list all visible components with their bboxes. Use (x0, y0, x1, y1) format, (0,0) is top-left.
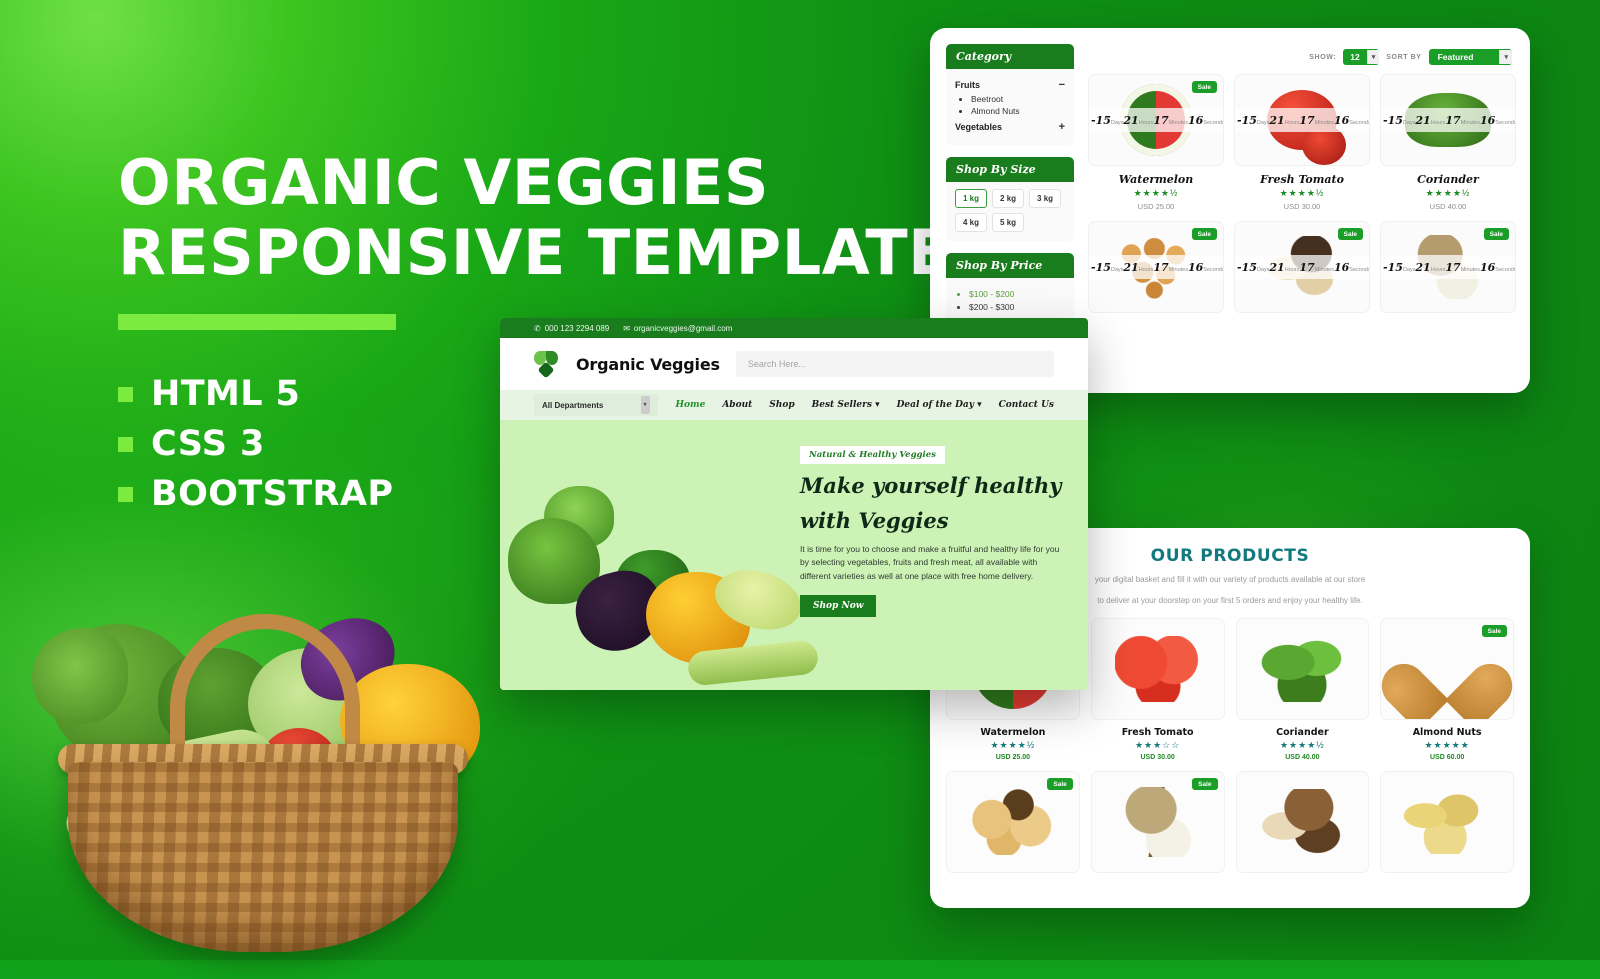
envelope-icon: ✉ (623, 324, 630, 333)
size-chip-5kg[interactable]: 5 kg (992, 213, 1024, 232)
phone-icon: ✆ (534, 324, 541, 333)
countdown-timer: -15Days 21Hours 17Minutes 16Seconds (1381, 108, 1515, 132)
countdown-value: 17 (1153, 261, 1168, 274)
category-widget: Category Fruits − Beetroot Almond Nuts V… (946, 44, 1074, 145)
product-image: -15Days 21Hours 17Minutes 16Seconds (1234, 74, 1370, 166)
feature-label: CSS 3 (151, 424, 265, 464)
product-image (1236, 618, 1370, 720)
nav-item-deal-of-the-day[interactable]: Deal of the Day ▾ (897, 400, 982, 410)
product-price: USD 40.00 (1236, 754, 1370, 761)
product-image (1380, 771, 1514, 873)
nav-item-shop[interactable]: Shop (769, 400, 794, 410)
departments-label: All Departments (542, 401, 603, 410)
vegetable-basket-image (10, 540, 510, 960)
countdown-value: -15 (1091, 114, 1111, 127)
product-card[interactable]: Sale (946, 771, 1080, 873)
countdown-timer: -15Days 21Hours 17Minutes 16Seconds (1235, 108, 1369, 132)
category-label: Fruits (955, 80, 980, 90)
product-image: Sale -15Days 21Hours 17Minutes 16Seconds (1380, 221, 1516, 313)
promo-title-line1: ORGANIC VEGGIES (118, 148, 938, 218)
countdown-label: Hours (1139, 120, 1154, 126)
product-card[interactable]: Coriander ★★★★½ USD 40.00 (1236, 618, 1370, 761)
product-price: USD 25.00 (946, 754, 1080, 761)
countdown-value: 16 (1480, 261, 1495, 274)
countdown-value: 17 (1445, 114, 1460, 127)
minus-icon[interactable]: − (1059, 79, 1065, 91)
logo-icon[interactable] (534, 351, 560, 377)
countdown-timer: -15Days 21Hours 17Minutes 16Seconds (1089, 255, 1223, 279)
countdown-label: Seconds (1203, 267, 1224, 273)
email-contact[interactable]: ✉ organicveggies@gmail.com (623, 324, 732, 333)
mushroom-image (1237, 772, 1369, 872)
countdown-value: -15 (1237, 261, 1257, 274)
nav-links: Home About Shop Best Sellers ▾ Deal of t… (676, 400, 1054, 410)
nav-label: Deal of the Day (897, 400, 974, 410)
rating-stars: ★★★★½ (946, 740, 1080, 751)
product-price: USD 30.00 (1091, 754, 1225, 761)
product-card[interactable]: Sale -15Days 21Hours 17Minutes 16Seconds (1380, 221, 1516, 313)
hero-title-line1: Make yourself healthy (800, 474, 1070, 499)
status-badge: Sale (1047, 778, 1072, 790)
chevron-down-icon[interactable]: ▾ (1367, 50, 1380, 64)
status-badge: Sale (1192, 228, 1217, 240)
category-label: Vegetables (955, 122, 1002, 132)
coriander-image (1237, 619, 1369, 719)
hero-copy: Natural & Healthy Veggies Make yourself … (800, 444, 1070, 617)
countdown-label: Minutes (1315, 267, 1334, 273)
potato-image (1381, 772, 1513, 872)
product-card[interactable]: Sale (1091, 771, 1225, 873)
square-bullet-icon (118, 487, 133, 502)
size-widget: Shop By Size 1 kg 2 kg 3 kg 4 kg 5 kg (946, 157, 1074, 241)
phone-number: 000 123 2294 089 (545, 324, 610, 333)
product-name: Coriander (1380, 173, 1516, 186)
countdown-label: Minutes (1169, 267, 1188, 273)
product-name: Watermelon (946, 727, 1080, 738)
rating-stars: ★★★★½ (1234, 188, 1370, 199)
rating-stars: ★★★★★ (1380, 740, 1514, 751)
sort-value: Featured (1429, 49, 1500, 65)
product-name: Almond Nuts (1380, 727, 1514, 738)
countdown-value: 21 (1269, 114, 1284, 127)
product-name: Fresh Tomato (1091, 727, 1225, 738)
countdown-value: 21 (1415, 114, 1430, 127)
square-bullet-icon (118, 437, 133, 452)
size-chip-3kg[interactable]: 3 kg (1029, 189, 1061, 208)
countdown-value: 21 (1269, 261, 1284, 274)
status-badge: Sale (1484, 228, 1509, 240)
list-item[interactable]: $100 - $200 (969, 289, 1065, 299)
chevron-down-icon[interactable]: ▾ (1499, 50, 1512, 64)
shop-toolbar: SHOW: 12 ▾ SORT BY Featured ▾ (1088, 44, 1516, 70)
product-grid: Sale -15Days 21Hours 17Minutes 16Seconds… (1088, 74, 1516, 313)
countdown-value: 21 (1123, 114, 1138, 127)
product-image (1091, 618, 1225, 720)
nav-item-best-sellers[interactable]: Best Sellers ▾ (812, 400, 880, 410)
countdown-timer: -15Days 21Hours 17Minutes 16Seconds (1235, 255, 1369, 279)
countdown-label: Days (1403, 267, 1416, 273)
show-value: 12 (1343, 49, 1366, 65)
countdown-value: 17 (1299, 261, 1314, 274)
product-card[interactable] (1236, 771, 1370, 873)
phone-contact[interactable]: ✆ 000 123 2294 089 (534, 324, 609, 333)
countdown-value: 17 (1445, 261, 1460, 274)
product-price: USD 25.00 (1088, 202, 1224, 211)
price-widget-title: Shop By Price (946, 253, 1074, 278)
plus-icon[interactable]: + (1059, 121, 1065, 133)
status-badge: Sale (1482, 625, 1507, 637)
nav-item-contact-us[interactable]: Contact Us (999, 400, 1054, 410)
countdown-value: 16 (1188, 261, 1203, 274)
product-card[interactable]: -15Days 21Hours 17Minutes 16Seconds Cori… (1380, 74, 1516, 211)
list-item[interactable]: Beetroot (971, 94, 1065, 104)
product-card[interactable]: Sale -15Days 21Hours 17Minutes 16Seconds (1088, 221, 1224, 313)
countdown-value: -15 (1383, 261, 1403, 274)
product-card[interactable]: Sale -15Days 21Hours 17Minutes 16Seconds… (1088, 74, 1224, 211)
countdown-label: Minutes (1461, 267, 1480, 273)
category-group-vegetables[interactable]: Vegetables + (955, 121, 1065, 133)
email-address: organicveggies@gmail.com (634, 324, 732, 333)
size-widget-title: Shop By Size (946, 157, 1074, 182)
countdown-value: 21 (1123, 261, 1138, 274)
rating-stars: ★★★★½ (1236, 740, 1370, 751)
sort-select[interactable]: Featured ▾ (1429, 49, 1512, 65)
countdown-value: 21 (1415, 261, 1430, 274)
square-bullet-icon (118, 387, 133, 402)
promo-underline (118, 314, 396, 330)
countdown-label: Seconds (1495, 267, 1516, 273)
product-name: Watermelon (1088, 173, 1224, 186)
countdown-value: 16 (1334, 261, 1349, 274)
countdown-label: Days (1111, 120, 1124, 126)
countdown-label: Days (1111, 267, 1124, 273)
countdown-label: Seconds (1495, 120, 1516, 126)
status-badge: Sale (1338, 228, 1363, 240)
kale-leaf-small (32, 628, 128, 724)
countdown-label: Seconds (1349, 267, 1370, 273)
show-select[interactable]: 12 ▾ (1343, 49, 1379, 65)
countdown-label: Hours (1431, 267, 1446, 273)
basket-weave (68, 762, 458, 952)
brand-name[interactable]: Organic Veggies (576, 355, 720, 374)
list-item[interactable]: $200 - $300 (969, 302, 1065, 312)
product-price: USD 30.00 (1234, 202, 1370, 211)
countdown-label: Days (1403, 120, 1416, 126)
countdown-label: Hours (1431, 120, 1446, 126)
product-image (1236, 771, 1370, 873)
promo-title-line2: RESPONSIVE TEMPLATE (118, 218, 938, 288)
product-image: Sale -15Days 21Hours 17Minutes 16Seconds (1088, 221, 1224, 313)
size-chip-4kg[interactable]: 4 kg (955, 213, 987, 232)
countdown-value: 16 (1334, 114, 1349, 127)
product-image: -15Days 21Hours 17Minutes 16Seconds (1380, 74, 1516, 166)
countdown-label: Minutes (1169, 120, 1188, 126)
countdown-label: Hours (1285, 267, 1300, 273)
sort-label: SORT BY (1386, 54, 1421, 61)
countdown-label: Days (1257, 267, 1270, 273)
hero-body-text: It is time for you to choose and make a … (800, 543, 1070, 584)
product-name: Fresh Tomato (1234, 173, 1370, 186)
product-image: Sale (1091, 771, 1225, 873)
product-image: Sale -15Days 21Hours 17Minutes 16Seconds (1088, 74, 1224, 166)
nav-item-about[interactable]: About (722, 400, 752, 410)
nav-item-home[interactable]: Home (676, 400, 706, 410)
product-price: USD 40.00 (1380, 202, 1516, 211)
countdown-label: Minutes (1315, 120, 1334, 126)
hero-title-line2: with Veggies (800, 509, 1070, 534)
countdown-value: -15 (1237, 114, 1257, 127)
rating-stars: ★★★☆☆ (1091, 740, 1225, 751)
feature-label: BOOTSTRAP (151, 474, 393, 514)
product-price: USD 60.00 (1380, 754, 1514, 761)
list-item[interactable]: Almond Nuts (971, 106, 1065, 116)
tomato-image (1092, 619, 1224, 719)
status-badge: Sale (1192, 81, 1217, 93)
countdown-label: Days (1257, 120, 1270, 126)
size-chip-2kg[interactable]: 2 kg (992, 189, 1024, 208)
size-chip-1kg[interactable]: 1 kg (955, 189, 987, 208)
product-card[interactable]: Sale -15Days 21Hours 17Minutes 16Seconds (1234, 221, 1370, 313)
hero-vegetables-image (500, 460, 830, 690)
countdown-value: 16 (1480, 114, 1495, 127)
search-input[interactable]: Search Here... (736, 351, 1054, 377)
shop-main: SHOW: 12 ▾ SORT BY Featured ▾ Sale (1088, 44, 1516, 393)
site-header: Organic Veggies Search Here... (500, 338, 1088, 390)
main-navigation: All Departments ▾ Home About Shop Best S… (500, 390, 1088, 420)
category-children: Beetroot Almond Nuts (971, 94, 1065, 116)
countdown-label: Seconds (1349, 120, 1370, 126)
countdown-value: 16 (1188, 114, 1203, 127)
product-card[interactable]: -15Days 21Hours 17Minutes 16Seconds Fres… (1234, 74, 1370, 211)
product-card[interactable]: Fresh Tomato ★★★☆☆ USD 30.00 (1091, 618, 1225, 761)
countdown-value: -15 (1091, 261, 1111, 274)
hero-badge: Natural & Healthy Veggies (800, 446, 945, 464)
product-name: Coriander (1236, 727, 1370, 738)
nav-label: Best Sellers (812, 400, 872, 410)
feature-label: HTML 5 (151, 374, 300, 414)
chevron-down-icon[interactable]: ▾ (641, 396, 650, 414)
departments-dropdown[interactable]: All Departments ▾ (534, 394, 658, 416)
countdown-timer: -15Days 21Hours 17Minutes 16Seconds (1089, 108, 1223, 132)
contact-topbar: ✆ 000 123 2294 089 ✉ organicveggies@gmai… (500, 318, 1088, 338)
product-card[interactable] (1380, 771, 1514, 873)
countdown-label: Seconds (1203, 120, 1224, 126)
rating-stars: ★★★★½ (1088, 188, 1224, 199)
countdown-label: Hours (1285, 120, 1300, 126)
product-card[interactable]: Sale Almond Nuts ★★★★★ USD 60.00 (1380, 618, 1514, 761)
category-widget-title: Category (946, 44, 1074, 69)
product-image: Sale -15Days 21Hours 17Minutes 16Seconds (1234, 221, 1370, 313)
status-badge: Sale (1192, 778, 1217, 790)
category-group-fruits[interactable]: Fruits − (955, 79, 1065, 91)
countdown-value: -15 (1383, 114, 1403, 127)
countdown-timer: -15Days 21Hours 17Minutes 16Seconds (1381, 255, 1515, 279)
hero-banner: Natural & Healthy Veggies Make yourself … (500, 420, 1088, 690)
countdown-value: 17 (1153, 114, 1168, 127)
product-image: Sale (1380, 618, 1514, 720)
countdown-value: 17 (1299, 114, 1314, 127)
product-grid-row2: Sale Sale (930, 771, 1530, 873)
countdown-label: Hours (1139, 267, 1154, 273)
rating-stars: ★★★★½ (1380, 188, 1516, 199)
homepage-mockup: ✆ 000 123 2294 089 ✉ organicveggies@gmai… (500, 318, 1088, 690)
shop-now-button[interactable]: Shop Now (800, 595, 876, 617)
countdown-label: Minutes (1461, 120, 1480, 126)
product-image: Sale (946, 771, 1080, 873)
show-label: SHOW: (1309, 54, 1336, 61)
